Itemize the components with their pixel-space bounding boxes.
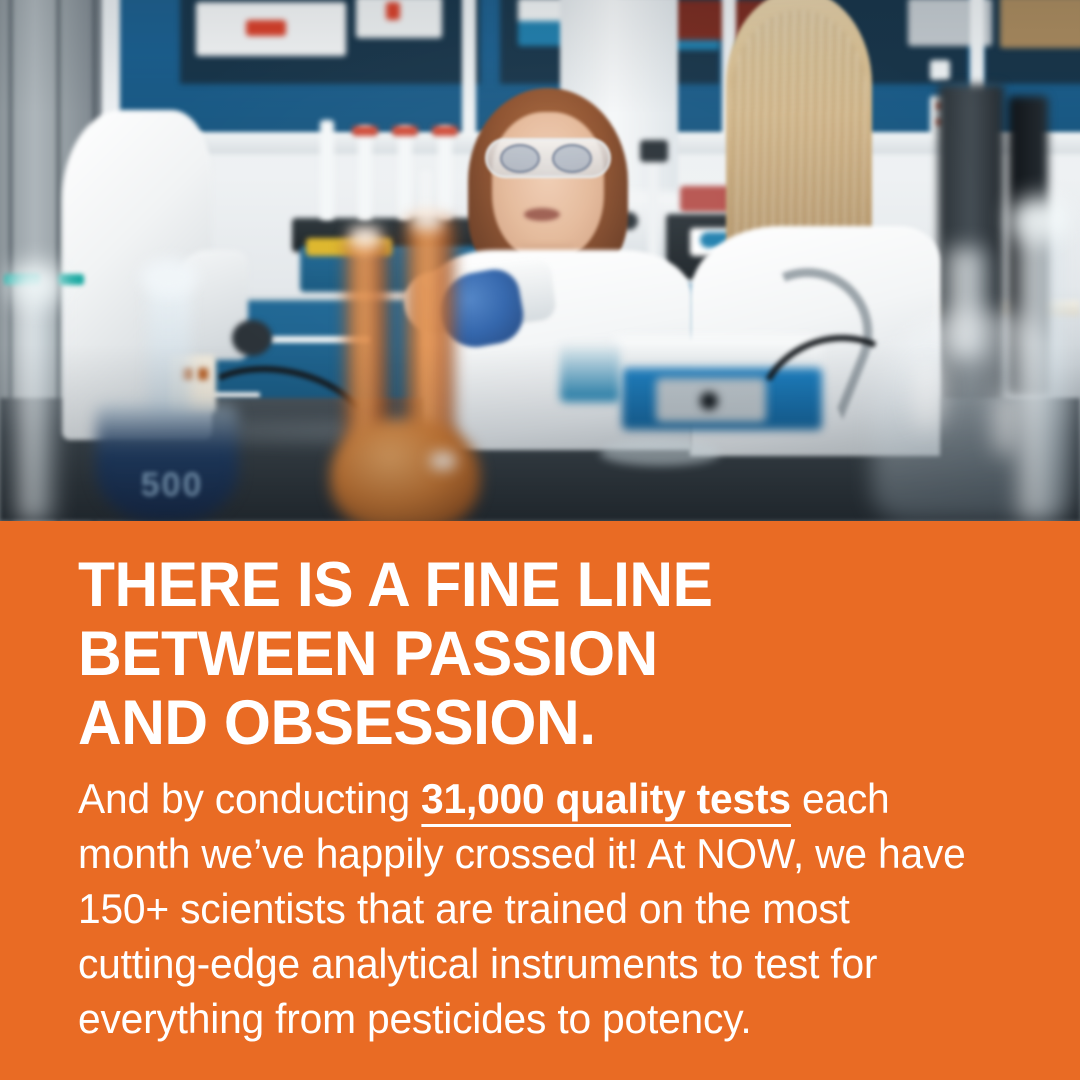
amber-cap-2 <box>412 208 442 230</box>
scientist-center-mouth <box>524 208 560 221</box>
tube-cap-red-1 <box>352 126 378 136</box>
blue-flask-stopper <box>140 258 198 296</box>
foreground-glass-bulb-left <box>8 262 64 306</box>
stand-rod-right <box>648 146 658 262</box>
balance-knob <box>700 392 718 410</box>
bottle-on-bench <box>560 344 620 402</box>
headline-line-1: THERE IS A FINE LINE <box>78 551 980 620</box>
tube-cap-red-2 <box>392 126 418 136</box>
foreground-glass-bulb-right <box>1010 196 1070 242</box>
scientist-left-hand <box>232 320 272 356</box>
promo-poster: 500 THERE IS A FINE LINE BETWEEN PASSION… <box>0 0 1080 1080</box>
cabinet-divider-1 <box>462 0 476 142</box>
outlet-foreground-dot-2 <box>198 368 208 380</box>
test-tube-4 <box>438 126 452 220</box>
tube-cap-red-3 <box>432 126 458 136</box>
headline-line-3: AND OBSESSION. <box>78 689 980 758</box>
body-paragraph: And by conducting 31,000 quality tests e… <box>78 771 975 1046</box>
amber-cap-1 <box>350 226 380 248</box>
cabinet-box-cardboard <box>1000 0 1080 48</box>
cabinet-label-red-1 <box>246 20 286 36</box>
test-tube-3 <box>398 126 412 220</box>
quality-tests-stat: 31,000 quality tests <box>421 775 791 827</box>
test-tube-2 <box>358 126 372 220</box>
foreground-glass-column-left <box>16 288 56 521</box>
goggles-lens-right <box>552 144 592 173</box>
body-text-before-stat: And by conducting <box>78 775 421 822</box>
wall-switch-plate <box>930 60 950 80</box>
headline-line-2: BETWEEN PASSION <box>78 620 980 689</box>
clamp-head <box>640 140 668 162</box>
flask-volume-marking: 500 <box>118 466 226 506</box>
goggles-lens-left <box>500 144 540 173</box>
scientist-center-face <box>492 112 604 258</box>
amber-flask-bulb <box>330 420 480 521</box>
clear-flask-highlight-1 <box>912 360 942 430</box>
laboratory-photo: 500 <box>0 0 1080 521</box>
amber-glass-highlight <box>430 452 456 470</box>
page-title: THERE IS A FINE LINE BETWEEN PASSION AND… <box>78 551 980 758</box>
blue-flask-neck <box>148 282 190 422</box>
test-tube-1 <box>320 120 334 220</box>
orange-message-panel: THERE IS A FINE LINE BETWEEN PASSION AND… <box>0 521 1080 1080</box>
cabinet-label-red-2 <box>386 2 400 20</box>
petri-dish <box>600 440 720 466</box>
clear-flask-highlight-2 <box>992 392 1018 456</box>
foreground-glass-column-right <box>1016 220 1066 520</box>
